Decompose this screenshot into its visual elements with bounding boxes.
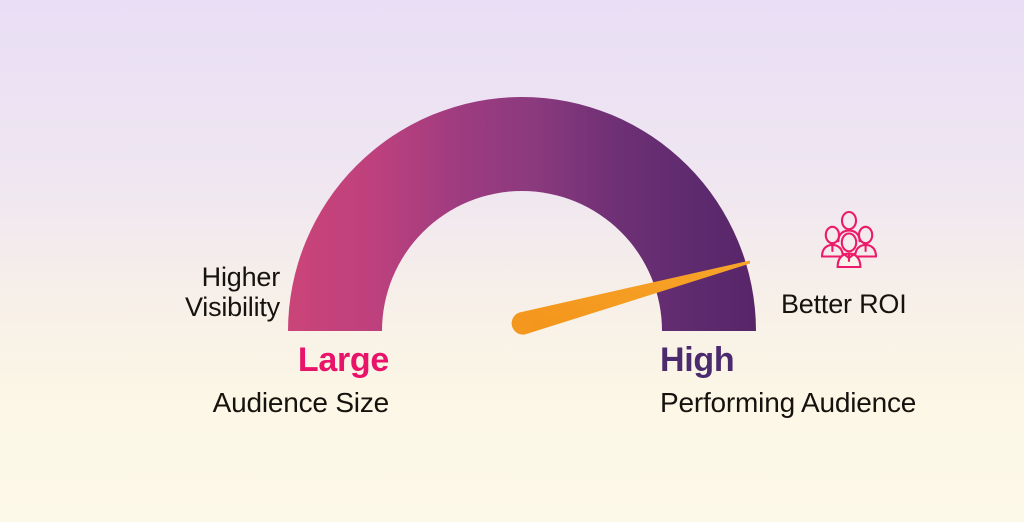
gauge-infographic: Higher Visibility Better ROI Large Audie…: [0, 0, 1024, 522]
right-metric-value: High: [660, 341, 734, 379]
left-annotation-line1: Higher: [202, 262, 280, 292]
right-metric-caption: Performing Audience: [660, 387, 916, 418]
gauge-arc-band: [288, 97, 756, 331]
left-metric-value: Large: [0, 341, 389, 379]
left-axis-annotation: Higher Visibility: [20, 262, 280, 322]
right-axis-annotation: Better ROI: [781, 289, 907, 319]
left-metric-caption: Audience Size: [0, 387, 389, 418]
people-group-icon: [813, 208, 885, 280]
left-annotation-line2: Visibility: [20, 292, 280, 322]
